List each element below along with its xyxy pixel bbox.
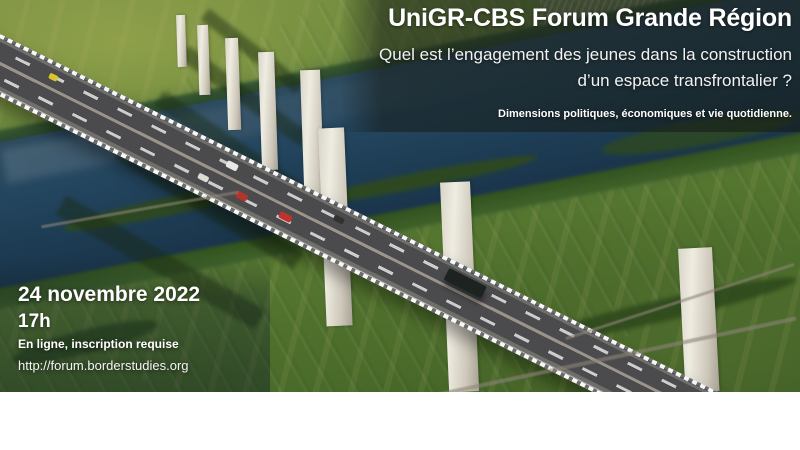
page-subtitle: Quel est l’engagement des jeunes dans la… (355, 42, 792, 94)
event-poster: UniGR-CBS Forum Grande Région Quel est l… (0, 0, 800, 450)
viaduct-pier-1 (176, 15, 187, 67)
event-url-link[interactable]: http://forum.borderstudies.org (18, 358, 189, 373)
event-date: 24 novembre 2022 (18, 283, 200, 307)
page-title: UniGR-CBS Forum Grande Région (340, 4, 792, 33)
page-tagline: Dimensions politiques, économiques et vi… (340, 108, 792, 120)
event-registration-note: En ligne, inscription requise (18, 337, 179, 351)
footer-logo-bar: UNIVERSITÉ DE LORRAINE IUT Henri Poincar… (0, 392, 800, 450)
event-time: 17h (18, 311, 51, 333)
